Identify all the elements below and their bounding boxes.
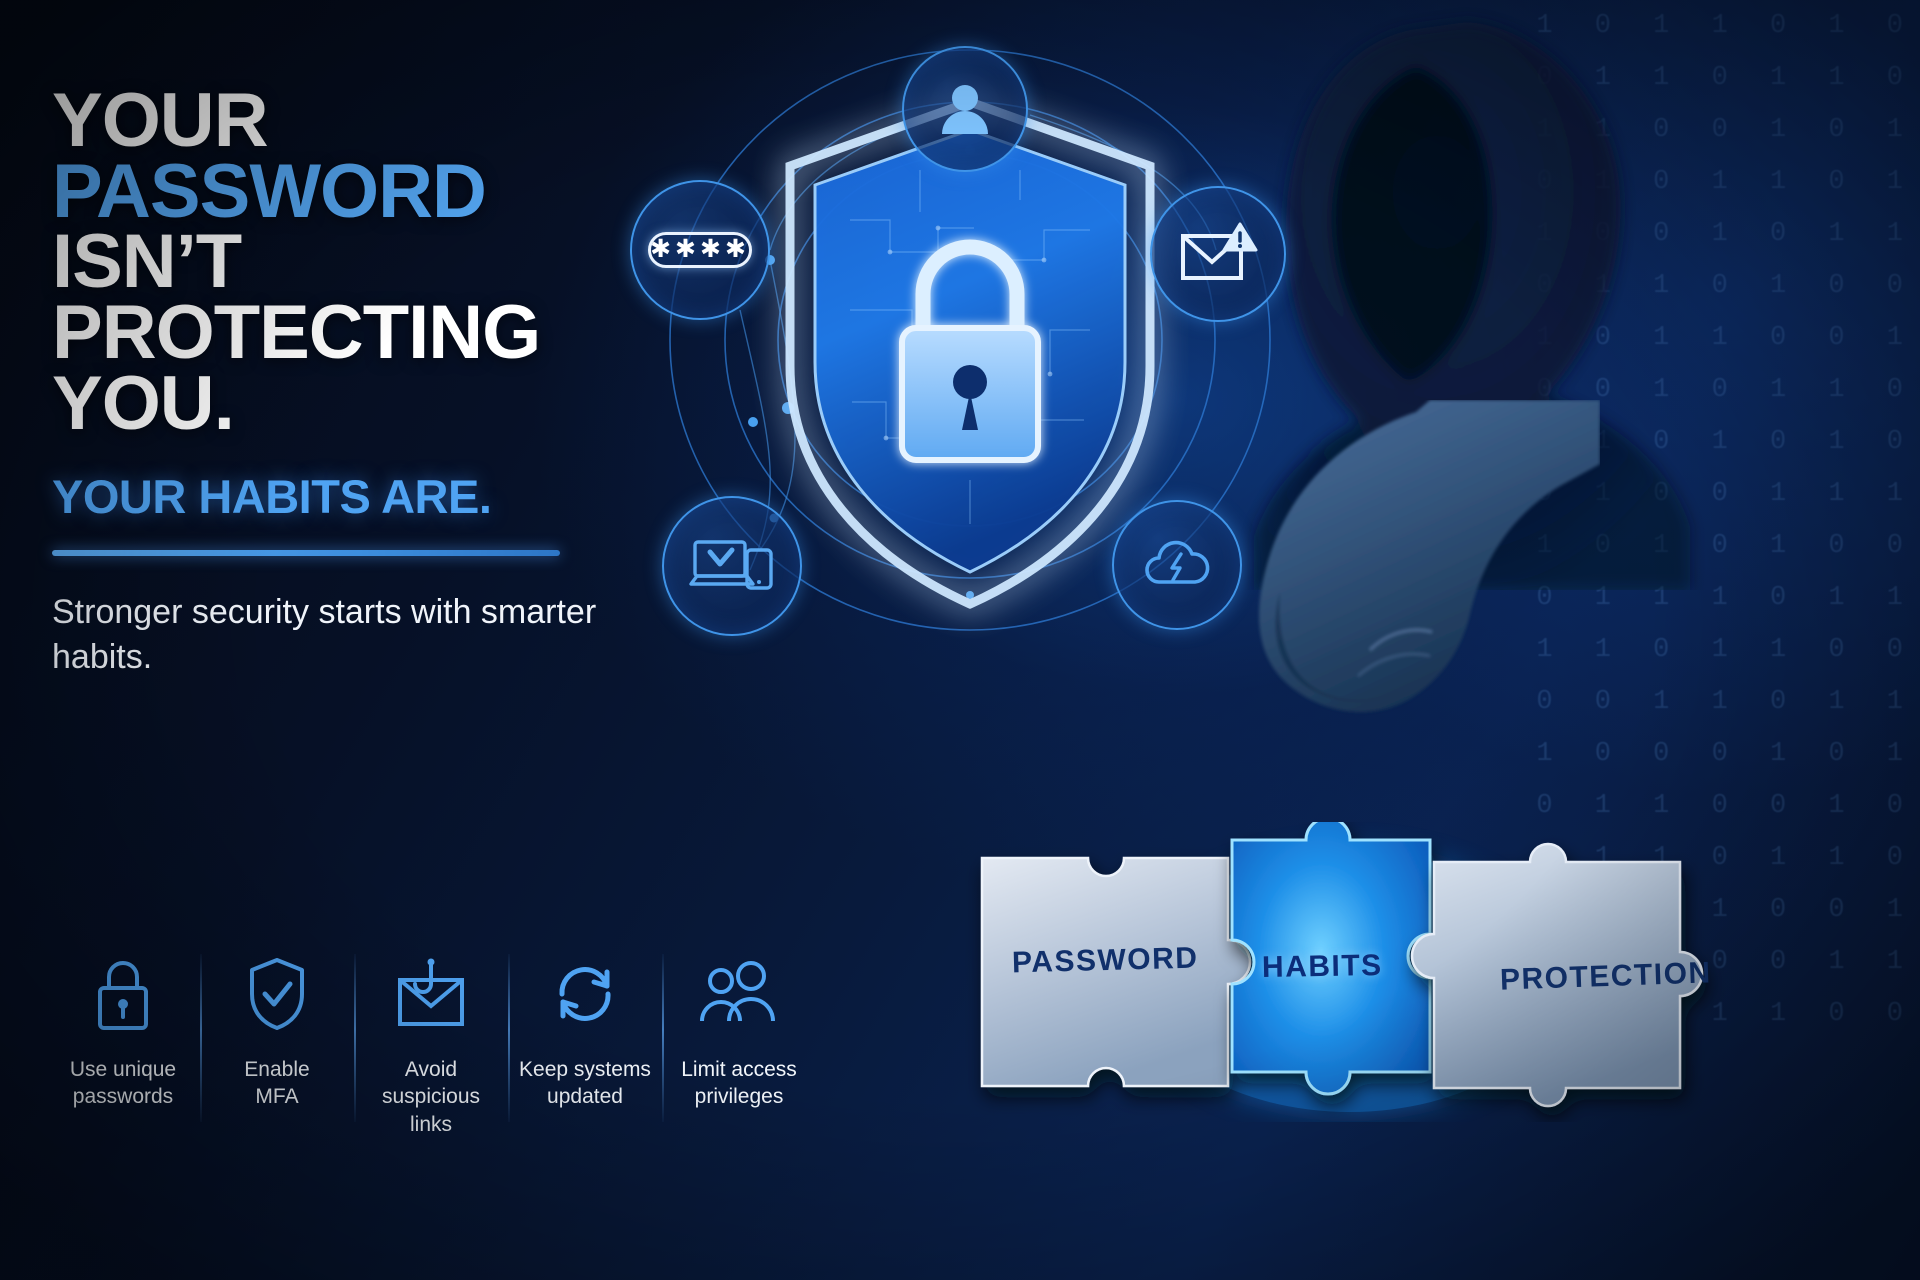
page-title: YOUR PASSWORD ISN’T PROTECTING YOU. (52, 86, 692, 439)
headline-line-5: YOU. (52, 369, 692, 440)
headline-line-3: ISN’T (52, 227, 692, 298)
tip-label: Keep systems updated (519, 1056, 651, 1111)
headline-line-2-accent: PASSWORD (52, 157, 692, 228)
orbit-icon-user (902, 46, 1028, 172)
hero-shield-graphic: ✱✱✱✱ (620, 10, 1320, 690)
orbit-icon-email-alert (1150, 186, 1286, 322)
lede-text: Stronger security starts with smarter ha… (52, 590, 692, 678)
headline-line-4: PROTECTING (52, 298, 692, 369)
orbit-icon-multi-device (662, 496, 802, 636)
subheadline: YOUR HABITS ARE. (52, 469, 692, 524)
tip-avoid-suspicious-links: Avoid suspicious links (354, 950, 508, 1138)
cloud-alert-icon (1139, 536, 1215, 594)
user-avatar-icon (934, 78, 996, 140)
puzzle-group: PASSWORD HABITS PROTECTION (960, 822, 1800, 1122)
tip-label: Enable MFA (244, 1056, 309, 1111)
phishing-mail-icon (393, 950, 469, 1038)
users-group-icon (696, 950, 782, 1038)
security-tips-row: Use unique passwords Enable MFA Avoi (46, 950, 816, 1138)
multi-device-icon (689, 534, 775, 598)
orbit-icon-cloud-alert (1112, 500, 1242, 630)
tip-label: Avoid suspicious links (360, 1056, 502, 1138)
headline-block: YOUR PASSWORD ISN’T PROTECTING YOU. YOUR… (52, 86, 692, 679)
orbit-icon-password: ✱✱✱✱ (630, 180, 770, 320)
tip-keep-systems-updated: Keep systems updated (508, 950, 662, 1111)
headline-line-1: YOUR (52, 86, 692, 157)
refresh-icon (549, 950, 621, 1038)
infographic-canvas: 1 0 1 1 0 1 0 0 1 1 0 1 1 0 1 1 0 0 1 0 … (0, 0, 1920, 1280)
email-alert-icon (1178, 220, 1258, 288)
password-field-icon: ✱✱✱✱ (648, 232, 752, 268)
tip-label: Use unique passwords (70, 1056, 176, 1111)
padlock-icon (92, 950, 154, 1038)
tip-enable-mfa: Enable MFA (200, 950, 354, 1111)
divider-rule (52, 550, 560, 556)
tip-limit-access-privileges: Limit access privileges (662, 950, 816, 1111)
shield-check-icon (246, 950, 308, 1038)
tip-label: Limit access privileges (681, 1056, 797, 1111)
tip-use-unique-passwords: Use unique passwords (46, 950, 200, 1111)
